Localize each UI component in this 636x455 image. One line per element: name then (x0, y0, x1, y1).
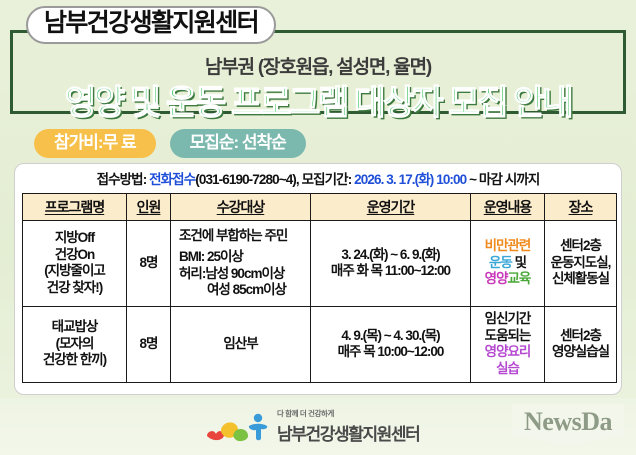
column-header-content: 운영내용 (471, 193, 545, 220)
content-run: 영양 (485, 271, 508, 286)
notice-method-value: 전화접수 (149, 172, 195, 187)
content-run: 임신기간 (485, 311, 531, 326)
place-line: 운동지도실, (547, 255, 614, 271)
program-name-line: 건강On (25, 247, 124, 263)
content-run: 교육 (508, 271, 531, 286)
period-line: 매주 목 10:00~12:00 (313, 344, 468, 360)
table-header-row: 프로그램명 인원 수강대상 운영기간 운영내용 장소 (23, 193, 617, 220)
program-name-line: 태교밥상 (25, 319, 124, 335)
target-line: 여성 85cm이상 (179, 282, 308, 298)
content-line: 영양교육 (473, 271, 542, 287)
target-top: 조건에 부합하는 주민 (179, 228, 308, 244)
table-row: 태교밥상 (모자의 건강한 한끼) 8명 임산부 4. 9.(목) ~ 4. 3… (23, 306, 617, 382)
column-header-period: 운영기간 (311, 193, 471, 220)
content-run: 운동 (489, 255, 512, 270)
program-name-line: 건강한 한끼) (25, 352, 124, 368)
notice-phone: (031-6190-7280~4), (195, 172, 301, 187)
content-run: 비만관련 (485, 238, 531, 253)
column-header-place: 장소 (545, 193, 617, 220)
period-line: 3. 24.(화) ~ 6. 9.(화) (313, 247, 468, 263)
content-line: 실습 (473, 361, 542, 377)
program-name-line: (지방줄이고 (25, 263, 124, 279)
cell-content: 비만관련 운동 및 영양교육 (471, 220, 545, 306)
notice-period-value: 2026. 3. 17.(화) 10:00 (354, 172, 466, 187)
place-line: 센터2층 (547, 328, 614, 344)
place-line: 신체활동실 (547, 271, 614, 287)
cell-target: 임산부 (171, 306, 311, 382)
cell-place: 센터2층 운동지도실, 신체활동실 (545, 220, 617, 306)
content-line: 운동 및 (473, 255, 542, 271)
content-run: 영양요리 (485, 344, 531, 359)
health-center-logo-icon (205, 412, 271, 446)
target-line: 허리:남성 90cm이상 (179, 266, 308, 282)
program-name-line: 지방Off (25, 230, 124, 246)
cell-count: 8명 (127, 306, 171, 382)
footer-center-name: 남부건강생활지원센터 (277, 420, 419, 445)
status-badge-fee: 참가비:무 료 (34, 129, 156, 158)
cell-period: 4. 9.(목) ~ 4. 30.(목) 매주 목 10:00~12:00 (311, 306, 471, 382)
cell-target: 조건에 부합하는 주민 BMI: 25이상 허리:남성 90cm이상 여성 85… (171, 220, 311, 306)
badge-group: 참가비:무 료 모집순: 선착순 (34, 129, 306, 158)
cell-count: 8명 (127, 220, 171, 306)
cell-program-name: 태교밥상 (모자의 건강한 한끼) (23, 306, 127, 382)
content-run: 도움되는 (485, 328, 531, 343)
program-card: 접수방법: 전화접수(031-6190-7280~4), 모집기간: 2026.… (14, 163, 622, 395)
target-line: BMI: 25이상 (179, 249, 308, 265)
footer-logo-text: 다 함께 더 건강하게 남부건강생활지원센터 (277, 408, 419, 446)
cell-program-name: 지방Off 건강On (지방줄이고 건강 찾자!) (23, 220, 127, 306)
place-line: 영양실습실 (547, 344, 614, 360)
content-line: 임신기간 (473, 311, 542, 327)
column-header-program: 프로그램명 (23, 193, 127, 220)
footer-logo: 다 함께 더 건강하게 남부건강생활지원센터 (205, 408, 419, 446)
watermark-text: NewsDa (512, 407, 624, 437)
content-run: 실습 (496, 361, 519, 376)
content-line: 도움되는 (473, 328, 542, 344)
notice-method-label: 접수방법: (97, 172, 150, 187)
column-header-count: 인원 (127, 193, 171, 220)
status-badge-order: 모집순: 선착순 (170, 129, 306, 158)
content-line: 비만관련 (473, 238, 542, 254)
poster-root: 남부권 (장호원읍, 설성면, 율면) 영양 및 운동 프로그램 대상자 모집 … (0, 0, 636, 455)
period-line: 4. 9.(목) ~ 4. 30.(목) (313, 328, 468, 344)
registration-notice: 접수방법: 전화접수(031-6190-7280~4), 모집기간: 2026.… (22, 170, 614, 193)
table-row: 지방Off 건강On (지방줄이고 건강 찾자!) 8명 조건에 부합하는 주민… (23, 220, 617, 306)
column-header-target: 수강대상 (171, 193, 311, 220)
page-title: 영양 및 운동 프로그램 대상자 모집 안내 (13, 75, 623, 124)
place-line: 센터2층 (547, 238, 614, 254)
content-line: 영양요리 (473, 344, 542, 360)
footer-tagline: 다 함께 더 건강하게 (277, 408, 419, 419)
program-name-line: (모자의 (25, 336, 124, 352)
program-table: 프로그램명 인원 수강대상 운영기간 운영내용 장소 지방Off 건강On (지… (22, 193, 617, 383)
cell-period: 3. 24.(화) ~ 6. 9.(화) 매주 화 목 11:00~12:00 (311, 220, 471, 306)
notice-period-label: 모집기간: (302, 172, 355, 187)
program-name-line: 건강 찾자!) (25, 280, 124, 296)
cell-content: 임신기간 도움되는 영양요리 실습 (471, 306, 545, 382)
target-block: 조건에 부합하는 주민 BMI: 25이상 허리:남성 90cm이상 여성 85… (173, 228, 308, 298)
period-line: 매주 화 목 11:00~12:00 (313, 263, 468, 279)
newsda-watermark: NewsDa (512, 404, 624, 446)
content-run: 및 (515, 255, 526, 270)
cell-place: 센터2층 영양실습실 (545, 306, 617, 382)
notice-period-tail: ~ 마감 시까지 (466, 172, 539, 187)
center-name-pill: 남부건강생활지원센터 (26, 6, 276, 44)
